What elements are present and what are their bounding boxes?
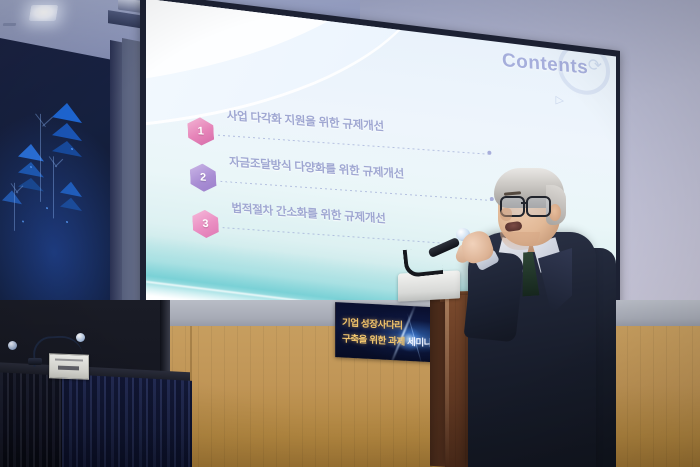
banner-line-2-rest: 세미나 <box>407 337 432 349</box>
microphone-base <box>28 358 42 365</box>
speaker-nose <box>500 208 512 221</box>
spark-dot <box>46 207 48 209</box>
leader-dots <box>218 135 490 155</box>
name-card <box>49 353 89 379</box>
ceiling-light-icon <box>29 5 59 21</box>
contents-item-number: 2 <box>189 163 216 193</box>
leader-end-dot <box>490 197 494 201</box>
contents-item-number: 3 <box>192 209 219 239</box>
glasses-lens-right <box>526 196 551 217</box>
hex-badge-1: 1 <box>187 116 214 146</box>
banner-line-2-highlight: 구축을 위한 과제 <box>342 333 405 347</box>
seminar-photo: ⟳ Contents ▷ 1 사업 다각화 지원을 위한 규제개선 2 자금조달… <box>0 0 700 467</box>
banner-line-1: 기업 성장사다리 <box>342 314 403 331</box>
microphone-knob <box>8 341 17 350</box>
ceiling-vent <box>3 23 17 26</box>
hex-badge-3: 3 <box>192 209 219 239</box>
spark-dot <box>71 148 73 150</box>
circular-arrow-glyph: ⟳ <box>588 55 602 77</box>
hex-badge-2: 2 <box>189 163 216 193</box>
microphone-head-icon <box>76 333 85 342</box>
arrow-line <box>40 114 41 202</box>
name-card-line <box>55 359 83 362</box>
spark-dot <box>66 221 68 223</box>
name-card-line <box>58 366 79 371</box>
leader-dots <box>220 181 492 201</box>
spark-dot <box>22 220 24 222</box>
mouse-cursor-icon: ▷ <box>556 93 564 107</box>
panel-table-skirt-blue <box>62 374 192 467</box>
spark-dot <box>30 166 32 168</box>
contents-item-number: 1 <box>187 116 214 146</box>
leader-end-dot <box>487 151 491 155</box>
podium-edge-highlight <box>445 295 449 467</box>
contents-item-label: 사업 다각화 지원을 위한 규제개선 <box>226 107 384 134</box>
glasses-bridge <box>521 202 528 204</box>
